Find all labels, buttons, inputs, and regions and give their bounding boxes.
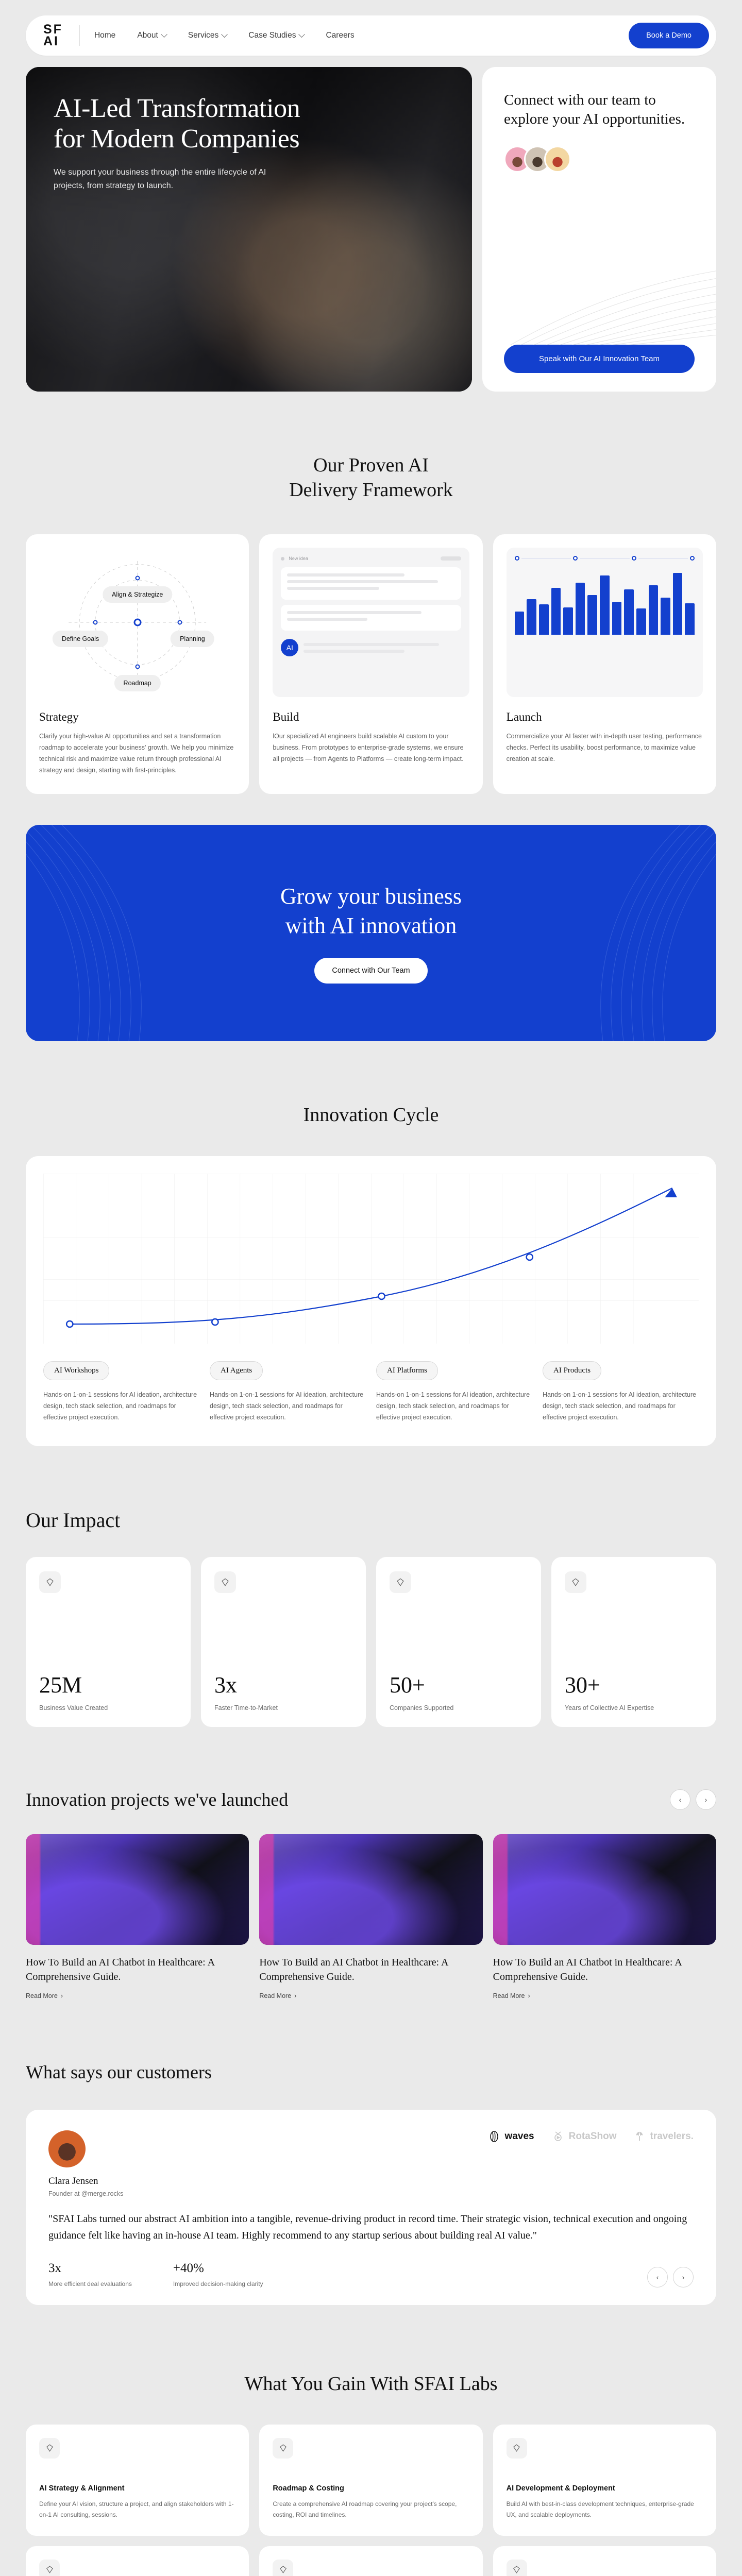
chart-bar (527, 599, 536, 635)
read-more-label: Read More (259, 1992, 291, 1999)
speak-with-team-button[interactable]: Speak with Our AI Innovation Team (504, 345, 695, 373)
chart-bar (600, 575, 610, 635)
diamond-icon (507, 2560, 527, 2576)
diamond-icon (39, 1571, 61, 1593)
chart-bar (551, 588, 561, 635)
step-dot (632, 556, 636, 561)
framework-heading-line-2: Delivery Framework (289, 479, 453, 501)
cycle-heading: Innovation Cycle (26, 1103, 716, 1128)
mock-line (287, 587, 379, 590)
diagram-label-roadmap: Roadmap (114, 675, 161, 691)
framework-section: Our Proven AI Delivery Framework (0, 392, 742, 794)
mock-ai-badge: AI (281, 639, 298, 656)
nav-item-label: Services (188, 31, 218, 40)
impact-heading: Our Impact (26, 1508, 716, 1532)
chart-bar (649, 585, 659, 635)
logo[interactable]: SF AI (43, 24, 63, 47)
testimonial-person: Clara Jensen Founder at @merge.rocks (48, 2130, 123, 2197)
diagram-node-center (133, 619, 141, 626)
chart-bar (636, 608, 646, 635)
cycle-item-desc: Hands-on 1-on-1 sessions for AI ideation… (376, 1389, 532, 1423)
nav-item-label: About (137, 31, 158, 40)
banner-lines-left (26, 825, 185, 1041)
diamond-icon (390, 1571, 411, 1593)
chart-bar (539, 604, 549, 635)
logo-line-2: AI (43, 36, 63, 47)
arrow-right-icon: › (294, 1992, 296, 1999)
gain-heading: What You Gain With SFAI Labs (26, 2372, 716, 2397)
project-title: How To Build an AI Chatbot in Healthcare… (26, 1955, 249, 1984)
gain-section: What You Gain With SFAI Labs AI Strategy… (0, 2305, 742, 2576)
banner-cta-button[interactable]: Connect with Our Team (314, 958, 427, 984)
hero-subtitle: We support your business through the ent… (54, 166, 275, 193)
logo-waves: waves (488, 2130, 534, 2143)
mock-line (287, 573, 404, 577)
chevron-down-icon (161, 31, 167, 38)
gain-card-title: AI Development & Deployment (507, 2484, 703, 2493)
nav-item-careers[interactable]: Careers (326, 31, 354, 40)
mock-card (281, 567, 461, 600)
step-dot (573, 556, 578, 561)
mock-dot-icon (281, 557, 284, 561)
chart-bar (587, 595, 597, 635)
hero-panel-cta-wrap: Speak with Our AI Innovation Team (504, 345, 695, 373)
testimonial-next-button[interactable]: › (673, 2267, 694, 2287)
nav-divider (79, 25, 80, 46)
cycle-item-ai-agents[interactable]: AI Agents Hands-on 1-on-1 sessions for A… (210, 1361, 366, 1423)
gain-card-desc: Define your AI vision, structure a proje… (39, 2499, 235, 2520)
project-thumbnail (493, 1834, 716, 1945)
chevron-down-icon (299, 31, 306, 38)
mock-line (303, 650, 404, 653)
step-dot (690, 556, 695, 561)
diamond-icon (39, 2560, 60, 2576)
logo-travelers: travelers. (634, 2130, 694, 2143)
diagram-node-left (93, 620, 97, 625)
mock-footer: AI (281, 639, 461, 656)
projects-heading: Innovation projects we've launched (26, 1789, 288, 1810)
framework-card-strategy: Align & Strategize Define Goals Planning… (26, 534, 249, 794)
testimonial-card: Clara Jensen Founder at @merge.rocks wav… (26, 2110, 716, 2306)
mock-line (287, 580, 438, 583)
chart-bar (563, 607, 573, 635)
hero-title-line-2: for Modern Companies (54, 124, 299, 154)
read-more-label: Read More (493, 1992, 525, 1999)
testimonial-top: Clara Jensen Founder at @merge.rocks wav… (48, 2130, 694, 2197)
framework-cards: Align & Strategize Define Goals Planning… (26, 534, 716, 794)
framework-card-title: Launch (507, 710, 703, 724)
testimonial-prev-button[interactable]: ‹ (647, 2267, 668, 2287)
nav-item-services[interactable]: Services (188, 31, 227, 40)
mock-toolbar: New idea (281, 556, 461, 561)
nav-item-about[interactable]: About (137, 31, 166, 40)
project-card[interactable]: How To Build an AI Chatbot in Healthcare… (493, 1834, 716, 1999)
cycle-curve (43, 1174, 699, 1344)
build-mockup-inner: New idea (273, 548, 469, 697)
mock-line (287, 618, 367, 621)
metric-label: Improved decision-making clarity (173, 2280, 263, 2287)
umbrella-icon (634, 2130, 645, 2143)
gain-card: AI Strategy & Alignment Define your AI v… (26, 2546, 249, 2576)
step-line (580, 558, 629, 559)
read-more-link[interactable]: Read More› (259, 1992, 482, 1999)
arrow-right-icon: › (528, 1992, 530, 1999)
chevron-down-icon (221, 31, 228, 38)
cta-banner: Grow your business with AI innovation Co… (26, 825, 716, 1041)
cycle-item-label: AI Platforms (376, 1361, 438, 1380)
step-line (521, 558, 571, 559)
project-thumbnail (259, 1834, 482, 1945)
play-icon (552, 2130, 564, 2143)
framework-card-desc: Commercialize your AI faster with in-dep… (507, 731, 703, 765)
diagram-label-planning: Planning (171, 631, 214, 647)
testimonial-footer: 3x More efficient deal evaluations +40% … (48, 2261, 694, 2287)
read-more-link[interactable]: Read More› (493, 1992, 716, 1999)
testimonial-heading: What says our customers (26, 2061, 716, 2083)
projects-header: Innovation projects we've launched ‹ › (26, 1789, 716, 1810)
framework-card-launch: Launch Commercialize your AI faster with… (493, 534, 716, 794)
diamond-icon (273, 2438, 293, 2459)
arrow-right-icon: › (61, 1992, 63, 1999)
cycle-item-label: AI Workshops (43, 1361, 109, 1380)
diagram-node-top (135, 576, 140, 581)
launch-chart-steps (515, 556, 695, 561)
stat-value: 30+ (565, 1672, 703, 1698)
logo-label: travelers. (650, 2131, 694, 2142)
testimonial-metric: 3x More efficient deal evaluations (48, 2261, 132, 2287)
banner-line-2: with AI innovation (285, 913, 457, 938)
page-root: SF AI Home About Services Case Studies C… (0, 0, 742, 2576)
stat-card: 30+ Years of Collective AI Expertise (551, 1557, 716, 1727)
avatar (48, 2130, 86, 2167)
testimonial-name: Clara Jensen (48, 2176, 123, 2187)
testimonial-role: Founder at @merge.rocks (48, 2190, 123, 2197)
banner-heading: Grow your business with AI innovation (280, 882, 462, 940)
diamond-icon (565, 1571, 586, 1593)
metric-value: 3x (48, 2261, 132, 2276)
diamond-icon (273, 2560, 293, 2576)
hero-title-line-1: AI-Led Transformation (54, 94, 300, 123)
framework-card-title: Strategy (39, 710, 235, 724)
gain-card: AI Development & Deployment Build AI wit… (493, 2546, 716, 2576)
project-card[interactable]: How To Build an AI Chatbot in Healthcare… (259, 1834, 482, 1999)
framework-card-build: New idea (259, 534, 482, 794)
nav-item-label: Home (94, 31, 115, 40)
logo-label: waves (505, 2131, 534, 2142)
gain-card-desc: Build AI with best-in-class development … (507, 2499, 703, 2520)
carousel-next-button[interactable]: › (696, 1789, 716, 1810)
testimonial-carousel-controls: ‹ › (647, 2267, 694, 2287)
banner-line-1: Grow your business (280, 884, 462, 909)
mock-heading: New idea (289, 556, 308, 561)
projects-section: Innovation projects we've launched ‹ › H… (0, 1727, 742, 1999)
waves-icon (488, 2130, 500, 2143)
innovation-cycle-section: Innovation Cycle (0, 1041, 742, 1446)
team-avatars (504, 146, 695, 173)
stat-card: 25M Business Value Created (26, 1557, 191, 1727)
gain-card-desc: Create a comprehensive AI roadmap coveri… (273, 2499, 469, 2520)
gain-grid: AI Strategy & Alignment Define your AI v… (26, 2425, 716, 2576)
hero-contact-card: Connect with our team to explore your AI… (482, 67, 716, 392)
stat-label: Companies Supported (390, 1704, 528, 1711)
strategy-diagram: Align & Strategize Define Goals Planning… (39, 548, 235, 697)
hero-title: AI-Led Transformation for Modern Compani… (54, 94, 441, 155)
mock-line (287, 611, 421, 614)
chart-bar (673, 573, 683, 635)
step-dot (515, 556, 519, 561)
gain-card-title: AI Strategy & Alignment (39, 2484, 235, 2493)
gain-card: AI Development & Deployment Build AI wit… (493, 2425, 716, 2536)
gain-card: AI Strategy & Alignment Define your AI v… (26, 2425, 249, 2536)
cycle-curve-svg (43, 1174, 699, 1344)
stat-card: 3x Faster Time-to-Market (201, 1557, 366, 1727)
framework-card-desc: lOur specialized AI engineers build scal… (273, 731, 469, 765)
chart-bar (661, 598, 670, 635)
cycle-item-label: AI Products (543, 1361, 601, 1380)
testimonial-quote: "SFAI Labs turned our abstract AI ambiti… (48, 2211, 694, 2244)
testimonial-section: What says our customers Clara Jensen Fou… (0, 1999, 742, 2306)
cycle-item-label: AI Agents (210, 1361, 263, 1380)
diagram-node-right (177, 620, 182, 625)
navbar-wrapper: SF AI Home About Services Case Studies C… (0, 0, 742, 56)
nav-links: Home About Services Case Studies Careers (94, 31, 355, 40)
launch-chart (507, 548, 703, 697)
hero-image-card: AI-Led Transformation for Modern Compani… (26, 67, 472, 392)
chart-bar (576, 583, 585, 635)
cycle-items: AI Workshops Hands-on 1-on-1 sessions fo… (43, 1344, 699, 1446)
cycle-item-ai-products[interactable]: AI Products Hands-on 1-on-1 sessions for… (543, 1361, 699, 1423)
mock-bar (441, 556, 461, 561)
project-card[interactable]: How To Build an AI Chatbot in Healthcare… (26, 1834, 249, 1999)
stat-label: Business Value Created (39, 1704, 177, 1711)
nav-item-label: Careers (326, 31, 354, 40)
chart-bar (624, 589, 634, 635)
framework-card-desc: Clarify your high-value AI opportunities… (39, 731, 235, 776)
banner-lines-right (556, 825, 716, 1041)
carousel-prev-button[interactable]: ‹ (670, 1789, 690, 1810)
diamond-icon (39, 2438, 60, 2459)
stat-value: 25M (39, 1672, 177, 1698)
cycle-item-ai-workshops[interactable]: AI Workshops Hands-on 1-on-1 sessions fo… (43, 1361, 199, 1423)
nav-item-case-studies[interactable]: Case Studies (248, 31, 304, 40)
read-more-link[interactable]: Read More› (26, 1992, 249, 1999)
gain-card-title: Roadmap & Costing (273, 2484, 469, 2493)
cycle-item-desc: Hands-on 1-on-1 sessions for AI ideation… (543, 1389, 699, 1423)
stat-card: 50+ Companies Supported (376, 1557, 541, 1727)
hero-panel-title: Connect with our team to explore your AI… (504, 91, 695, 128)
book-demo-button[interactable]: Book a Demo (629, 23, 709, 48)
diamond-icon (214, 1571, 236, 1593)
chart-bar (685, 603, 695, 635)
gain-card: Roadmap & Costing Create a comprehensive… (259, 2546, 482, 2576)
stat-value: 50+ (390, 1672, 528, 1698)
step-line (638, 558, 688, 559)
decorative-lines (510, 175, 716, 345)
testimonial-metric: +40% Improved decision-making clarity (173, 2261, 263, 2287)
nav-item-home[interactable]: Home (94, 31, 115, 40)
strategy-diagram-inner: Align & Strategize Define Goals Planning… (39, 548, 235, 697)
project-thumbnail (26, 1834, 249, 1945)
diagram-label-align: Align & Strategize (103, 586, 172, 603)
launch-bar-chart (515, 573, 695, 635)
cycle-item-ai-platforms[interactable]: AI Platforms Hands-on 1-on-1 sessions fo… (376, 1361, 532, 1423)
client-logos: waves RotaShow travelers. (488, 2130, 694, 2143)
stat-value: 3x (214, 1672, 352, 1698)
projects-carousel-controls: ‹ › (670, 1789, 716, 1810)
metric-value: +40% (173, 2261, 263, 2276)
framework-heading-line-1: Our Proven AI (313, 454, 429, 476)
read-more-label: Read More (26, 1992, 58, 1999)
mock-line (303, 643, 439, 646)
nav-item-label: Case Studies (248, 31, 296, 40)
cycle-card: AI Workshops Hands-on 1-on-1 sessions fo… (26, 1156, 716, 1446)
chart-bar (612, 602, 622, 635)
diagram-node-bottom (135, 664, 140, 669)
metric-label: More efficient deal evaluations (48, 2280, 132, 2287)
logo-rotashow: RotaShow (552, 2130, 617, 2143)
impact-section: Our Impact 25M Business Value Created 3x… (0, 1446, 742, 1727)
gain-card: Roadmap & Costing Create a comprehensive… (259, 2425, 482, 2536)
framework-heading: Our Proven AI Delivery Framework (26, 453, 716, 502)
launch-chart-inner (507, 548, 703, 697)
navbar: SF AI Home About Services Case Studies C… (26, 15, 716, 56)
hero-copy: AI-Led Transformation for Modern Compani… (54, 94, 441, 193)
stat-label: Faster Time-to-Market (214, 1704, 352, 1711)
diagram-label-define-goals: Define Goals (53, 631, 108, 647)
hero-section: AI-Led Transformation for Modern Compani… (0, 56, 742, 392)
projects-grid: How To Build an AI Chatbot in Healthcare… (26, 1834, 716, 1999)
mock-card (281, 605, 461, 631)
impact-stats: 25M Business Value Created 3x Faster Tim… (26, 1557, 716, 1727)
cycle-item-desc: Hands-on 1-on-1 sessions for AI ideation… (210, 1389, 366, 1423)
cta-banner-wrapper: Grow your business with AI innovation Co… (0, 794, 742, 1041)
diamond-icon (507, 2438, 527, 2459)
framework-card-title: Build (273, 710, 469, 724)
build-mockup: New idea (273, 548, 469, 697)
chart-bar (515, 612, 525, 635)
avatar (544, 146, 571, 173)
cycle-item-desc: Hands-on 1-on-1 sessions for AI ideation… (43, 1389, 199, 1423)
logo-label: RotaShow (569, 2131, 617, 2142)
project-title: How To Build an AI Chatbot in Healthcare… (493, 1955, 716, 1984)
stat-label: Years of Collective AI Expertise (565, 1704, 703, 1711)
project-title: How To Build an AI Chatbot in Healthcare… (259, 1955, 482, 1984)
